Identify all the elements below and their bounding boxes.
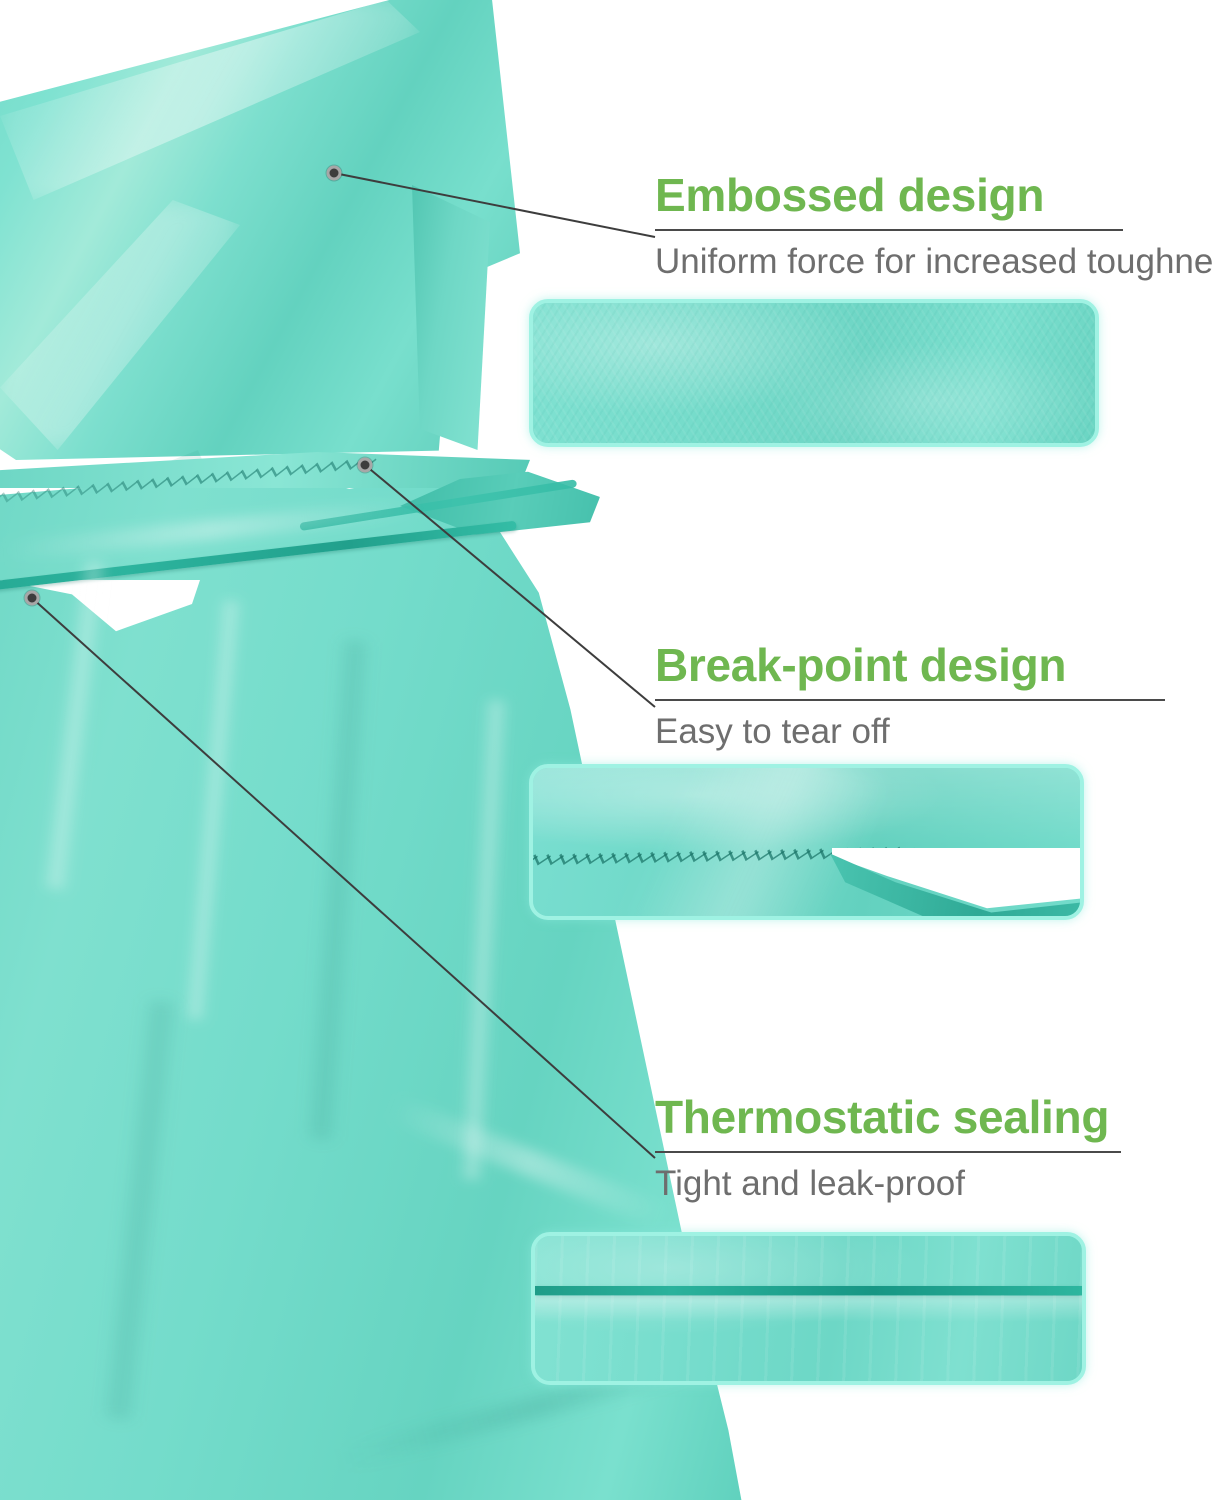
feature-break-point-design: Break-point design Easy to tear off — [655, 642, 1165, 751]
feature-title: Thermostatic sealing — [655, 1094, 1205, 1142]
heat-seal-detail — [535, 1286, 1082, 1295]
perforation-notch — [330, 454, 346, 472]
perforation-notch — [91, 476, 107, 494]
perforation-notch — [151, 471, 167, 489]
perforation-notch — [47, 481, 63, 499]
feature-subtitle: Uniform force for increased toughness — [655, 243, 1123, 282]
perforation-notch — [211, 465, 227, 483]
detail-card-break-point[interactable] — [529, 764, 1084, 920]
feature-subtitle: Easy to tear off — [655, 713, 1165, 752]
feature-title: Break-point design — [655, 642, 1165, 690]
seal-below-sheen — [535, 1296, 1082, 1322]
perforation-notch — [121, 474, 137, 492]
perforation-notch — [62, 479, 78, 497]
perforation-notch — [77, 478, 93, 496]
feature-title-rule — [655, 1151, 1121, 1153]
perforation-notch — [256, 461, 272, 479]
perforation-notch — [271, 460, 287, 478]
detail-card-image — [535, 1236, 1082, 1381]
perforation-notch — [181, 468, 197, 486]
perforation-notch — [2, 485, 18, 503]
feature-title: Embossed design — [655, 172, 1123, 220]
callout-dot-embossed[interactable] — [327, 166, 342, 181]
perforation-notch — [106, 475, 122, 493]
perforation-notch — [32, 482, 48, 500]
perforation-notch — [301, 457, 317, 475]
feature-subtitle: Tight and leak-proof — [655, 1165, 1205, 1204]
detail-card-image — [533, 303, 1095, 443]
perforation-notch — [166, 469, 182, 487]
callout-dot-break-point[interactable] — [358, 458, 373, 473]
perforation-notch — [241, 462, 257, 480]
detail-card-thermostatic[interactable] — [531, 1232, 1086, 1385]
perforation-notch — [136, 472, 152, 490]
perforation-notch — [286, 458, 302, 476]
feature-thermostatic-sealing: Thermostatic sealing Tight and leak-proo… — [655, 1094, 1205, 1203]
feature-embossed-design: Embossed design Uniform force for increa… — [655, 172, 1123, 281]
perforation-notch — [226, 464, 242, 482]
perforation-notch — [315, 455, 331, 473]
perforation-notch — [17, 484, 33, 502]
emboss-texture — [533, 303, 1095, 443]
perforation-notch — [196, 467, 212, 485]
infographic-page: Embossed design Uniform force for increa… — [0, 0, 1212, 1500]
roll-flap-edge — [412, 185, 490, 450]
callout-dot-thermostatic[interactable] — [25, 591, 40, 606]
feature-title-rule — [655, 699, 1165, 701]
detail-card-embossed[interactable] — [529, 299, 1099, 447]
detail-card-image — [533, 768, 1080, 916]
feature-title-rule — [655, 229, 1123, 231]
